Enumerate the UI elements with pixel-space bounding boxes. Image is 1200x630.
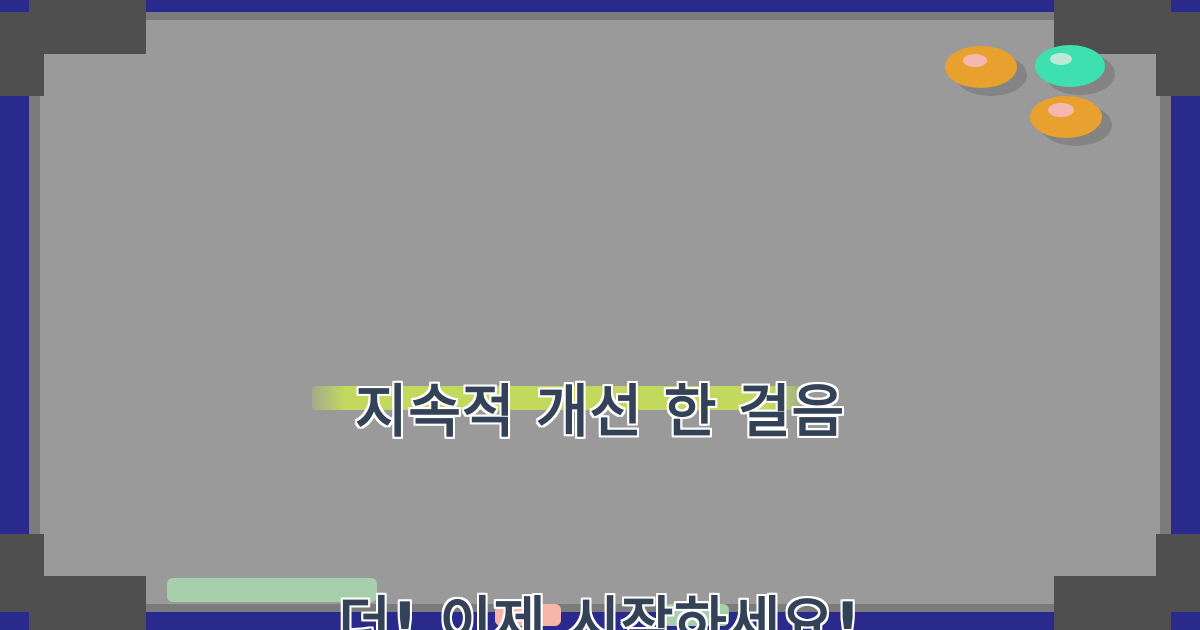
corner-bracket-top-left-arm (0, 0, 44, 96)
headline-line-2: 더! 이제 시작하세요! (0, 589, 1200, 630)
teal-blob-top-right-highlight-icon (1050, 53, 1072, 65)
headline: 지속적 개선 한 걸음 더! 이제 시작하세요! (0, 236, 1200, 630)
corner-notch-top-right (1171, 0, 1200, 12)
headline-line-1: 지속적 개선 한 걸음 (0, 377, 1200, 448)
teal-blob-top-right (1035, 45, 1105, 87)
frame-seam-top (0, 12, 1200, 20)
frame-band-top (0, 0, 1200, 12)
orange-blob-lower-highlight-icon (1048, 103, 1074, 117)
poster-canvas: 지속적 개선 한 걸음 더! 이제 시작하세요! (0, 0, 1200, 630)
orange-blob-lower (1030, 96, 1102, 138)
corner-bracket-top-right-arm (1156, 0, 1200, 96)
orange-blob-top-left (945, 46, 1017, 88)
corner-notch-top-left (0, 0, 29, 12)
orange-blob-top-left-highlight-icon (963, 54, 987, 67)
